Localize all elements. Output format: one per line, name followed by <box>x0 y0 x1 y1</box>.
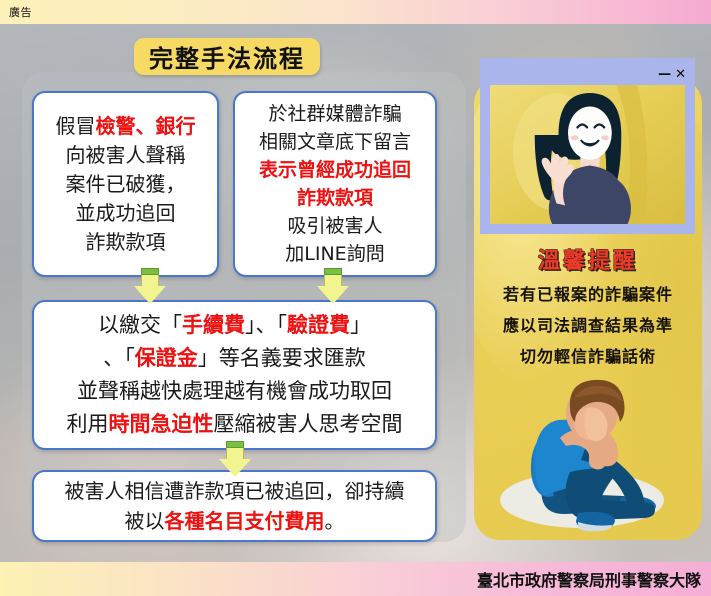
reminder-line: 切勿輕信詐騙話術 <box>474 343 702 367</box>
flow-step-4: 被害人相信遭詐款項已被追回，卻持續被以各種名目支付費用。 <box>32 470 437 542</box>
flow-line: 並聲稱越快處理越有機會成功取回 <box>77 375 392 408</box>
reminder-line: 若有已報案的詐騙案件 <box>474 281 702 305</box>
ad-banner: 廣告 <box>0 0 711 24</box>
body-text: 加LINE詢問 <box>285 243 384 265</box>
highlight-text: 保證金 <box>135 346 198 370</box>
page-title-text: 完整手法流程 <box>149 39 305 74</box>
flow-line: 吸引被害人 <box>287 212 382 240</box>
body-text: 被害人相信遭詐款項已被追回，卻持續 <box>65 479 405 503</box>
flow-step-2: 於社群媒體詐騙相關文章底下留言表示曾經成功追回詐欺款項吸引被害人加LINE詢問 <box>233 91 437 277</box>
close-icon[interactable]: ✕ <box>675 68 686 81</box>
flow-line: 假冒檢警、銀行 <box>56 112 196 141</box>
body-text: 於社群媒體詐騙 <box>268 103 401 125</box>
body-text: 以繳交「 <box>98 313 182 337</box>
highlight-text: 表示曾經成功追回 <box>259 159 411 181</box>
body-text: 並成功追回 <box>76 201 176 225</box>
window-content <box>490 85 685 224</box>
footer-bar: 臺北市政府警察局刑事警察大隊 <box>0 562 711 596</box>
footer-agency: 臺北市政府警察局刑事警察大隊 <box>477 567 701 591</box>
flow-line: 詐欺款項 <box>86 228 166 257</box>
highlight-text: 各種名目支付費用 <box>165 509 325 533</box>
flow-line: 被害人相信遭詐款項已被追回，卻持續 <box>65 476 405 506</box>
body-text: 被以 <box>125 509 165 533</box>
reminder-line: 應以司法調查結果為準 <box>474 312 702 336</box>
reminder-heading: 溫馨提醒 <box>474 243 702 275</box>
flow-line: 利用時間急迫性壓縮被害人思考空間 <box>67 408 403 441</box>
body-text: 利用 <box>67 412 109 436</box>
down-arrow-icon <box>317 268 349 304</box>
body-text: 、「 <box>103 346 135 370</box>
body-text: 」 <box>350 313 371 337</box>
flow-line: 、「保證金」等名義要求匯款 <box>103 342 366 375</box>
flow-step-1: 假冒檢警、銀行向被害人聲稱案件已破獲，並成功追回詐欺款項 <box>32 91 219 277</box>
highlight-text: 驗證費 <box>287 313 350 337</box>
flow-line: 加LINE詢問 <box>285 240 384 268</box>
page-title: 完整手法流程 <box>134 38 320 75</box>
window-title-bar: — ✕ <box>485 63 690 85</box>
browser-window-frame: — ✕ <box>480 58 695 234</box>
highlight-text: 詐欺款項 <box>297 187 373 209</box>
flow-line: 案件已破獲， <box>66 170 186 199</box>
body-text: 假冒 <box>56 114 96 138</box>
ad-label: 廣告 <box>9 4 32 20</box>
flow-line: 詐欺款項 <box>297 184 373 212</box>
flow-line: 表示曾經成功追回 <box>259 156 411 184</box>
highlight-text: 手續費 <box>182 313 245 337</box>
waving-woman-illustration <box>490 85 685 224</box>
sad-man-illustration <box>474 368 702 540</box>
flow-line: 以繳交「手續費」、「驗證費」 <box>98 309 371 342</box>
body-text: 相關文章底下留言 <box>259 131 411 153</box>
flow-step-3: 以繳交「手續費」、「驗證費」、「保證金」等名義要求匯款並聲稱越快處理越有機會成功… <box>32 300 437 450</box>
flow-line: 於社群媒體詐騙 <box>268 100 401 128</box>
body-text: 詐欺款項 <box>86 230 166 254</box>
down-arrow-icon <box>134 268 166 304</box>
body-text: 吸引被害人 <box>287 215 382 237</box>
flow-line: 相關文章底下留言 <box>259 128 411 156</box>
flow-line: 被以各種名目支付費用。 <box>125 506 345 536</box>
flow-line: 並成功追回 <box>76 199 176 228</box>
body-text: 壓縮被害人思考空間 <box>214 412 403 436</box>
flow-line: 向被害人聲稱 <box>66 141 186 170</box>
highlight-text: 時間急迫性 <box>109 412 214 436</box>
minimize-icon[interactable]: — <box>658 68 671 81</box>
body-text: 並聲稱越快處理越有機會成功取回 <box>77 379 392 403</box>
body-text: 」等名義要求匯款 <box>198 346 366 370</box>
body-text: 」、「 <box>245 313 287 337</box>
body-text: 案件已破獲， <box>66 172 186 196</box>
highlight-text: 檢警、銀行 <box>96 114 196 138</box>
infographic-canvas: 廣告 完整手法流程 假冒檢警、銀行向被害人聲稱案件已破獲，並成功追回詐欺款項 於… <box>0 0 711 596</box>
down-arrow-icon <box>219 441 251 477</box>
body-text: 向被害人聲稱 <box>66 143 186 167</box>
body-text: 。 <box>325 509 345 533</box>
